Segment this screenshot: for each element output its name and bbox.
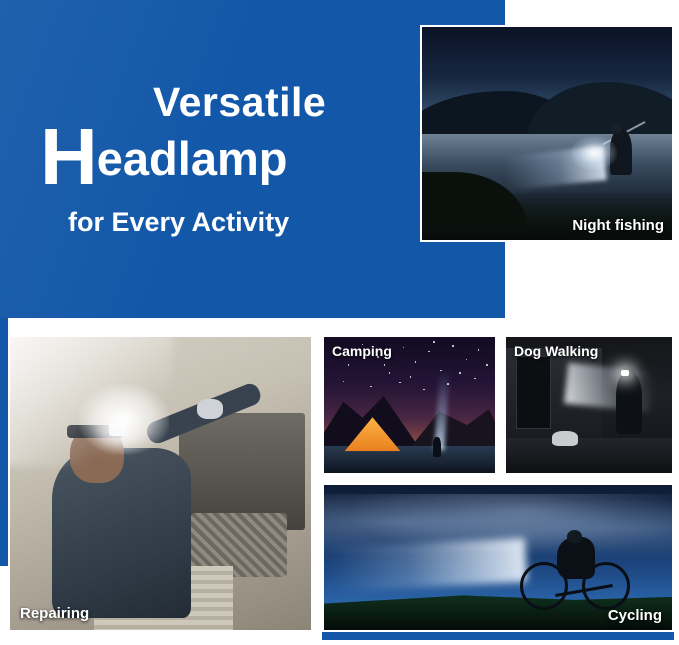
headlamp-light bbox=[621, 370, 629, 376]
camper-figure bbox=[433, 437, 441, 457]
product-infographic: Versatile Headlamp for Every Activity Ni… bbox=[0, 0, 679, 645]
caption-dog-walking: Dog Walking bbox=[514, 343, 598, 359]
dog-figure bbox=[552, 431, 578, 446]
hero-line-versatile: Versatile bbox=[40, 82, 440, 123]
hero-drop-cap: H bbox=[40, 112, 97, 201]
photo-cycling: Cycling bbox=[322, 483, 674, 632]
hero-subheading: for Every Activity bbox=[40, 207, 440, 238]
photo-dog-walking: Dog Walking bbox=[504, 335, 674, 475]
cyclist-helmet bbox=[567, 530, 582, 543]
walker-body bbox=[616, 372, 642, 434]
left-accent-bar bbox=[0, 318, 8, 566]
hero-line-headlamp: Headlamp bbox=[40, 125, 440, 189]
hero-headlamp-rest: eadlamp bbox=[97, 132, 288, 185]
beam-hotspot bbox=[79, 384, 169, 454]
headlamp-glow bbox=[571, 136, 617, 170]
angler-head bbox=[611, 123, 622, 134]
photo-camping: Camping bbox=[322, 335, 497, 475]
photo-night-fishing: Night fishing bbox=[420, 25, 674, 242]
technician-body bbox=[52, 448, 190, 618]
cyclist-body bbox=[557, 537, 595, 579]
hero-heading-group: Versatile Headlamp for Every Activity bbox=[40, 82, 440, 238]
hero-accent-edge bbox=[497, 242, 505, 318]
caption-night-fishing: Night fishing bbox=[572, 217, 664, 234]
bottom-accent-bar bbox=[322, 632, 674, 640]
doorway bbox=[516, 356, 551, 429]
caption-repairing: Repairing bbox=[20, 605, 89, 622]
caption-camping: Camping bbox=[332, 343, 392, 359]
photo-repairing: Repairing bbox=[8, 335, 313, 632]
caption-cycling: Cycling bbox=[608, 607, 662, 624]
pavement bbox=[506, 438, 672, 473]
technician-glove bbox=[197, 399, 223, 419]
